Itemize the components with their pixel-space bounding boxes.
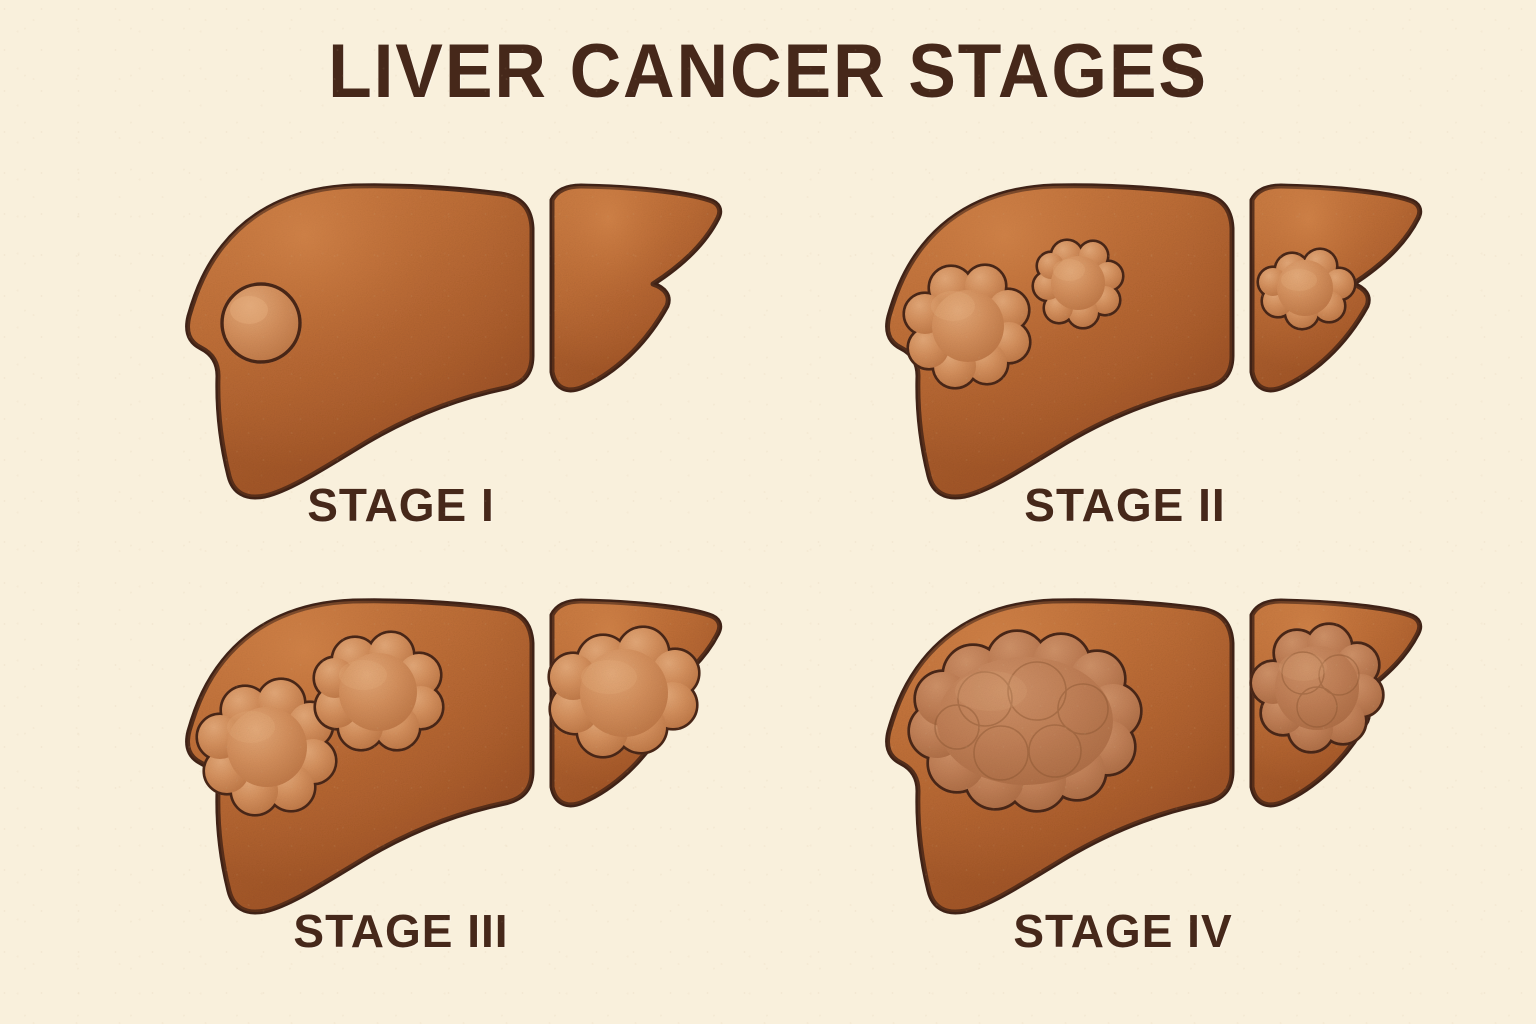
page-title: LIVER CANCER STAGES (46, 34, 1490, 110)
liver-cancer-stages-poster: LIVER CANCER STAGES (0, 0, 1536, 1024)
stage-panel-stage-3: STAGE III (105, 575, 725, 985)
liver-right-lobe (552, 186, 720, 390)
liver-illustration-stage-2 (805, 160, 1425, 505)
stage-label-stage-1: STAGE I (91, 482, 711, 528)
liver-illustration-stage-3 (105, 575, 725, 920)
stage-label-stage-3: STAGE III (91, 908, 711, 954)
stage-panel-stage-1: STAGE I (105, 160, 725, 560)
liver-illustration-stage-1 (105, 160, 725, 505)
stage-label-stage-4: STAGE IV (813, 908, 1433, 954)
liver-illustration-stage-4 (805, 575, 1425, 920)
stage-panel-stage-4: STAGE IV (805, 575, 1425, 985)
stage-label-stage-2: STAGE II (815, 482, 1435, 528)
stage-panel-stage-2: STAGE II (805, 160, 1425, 560)
tumor-left-lobe-1 (222, 284, 300, 362)
